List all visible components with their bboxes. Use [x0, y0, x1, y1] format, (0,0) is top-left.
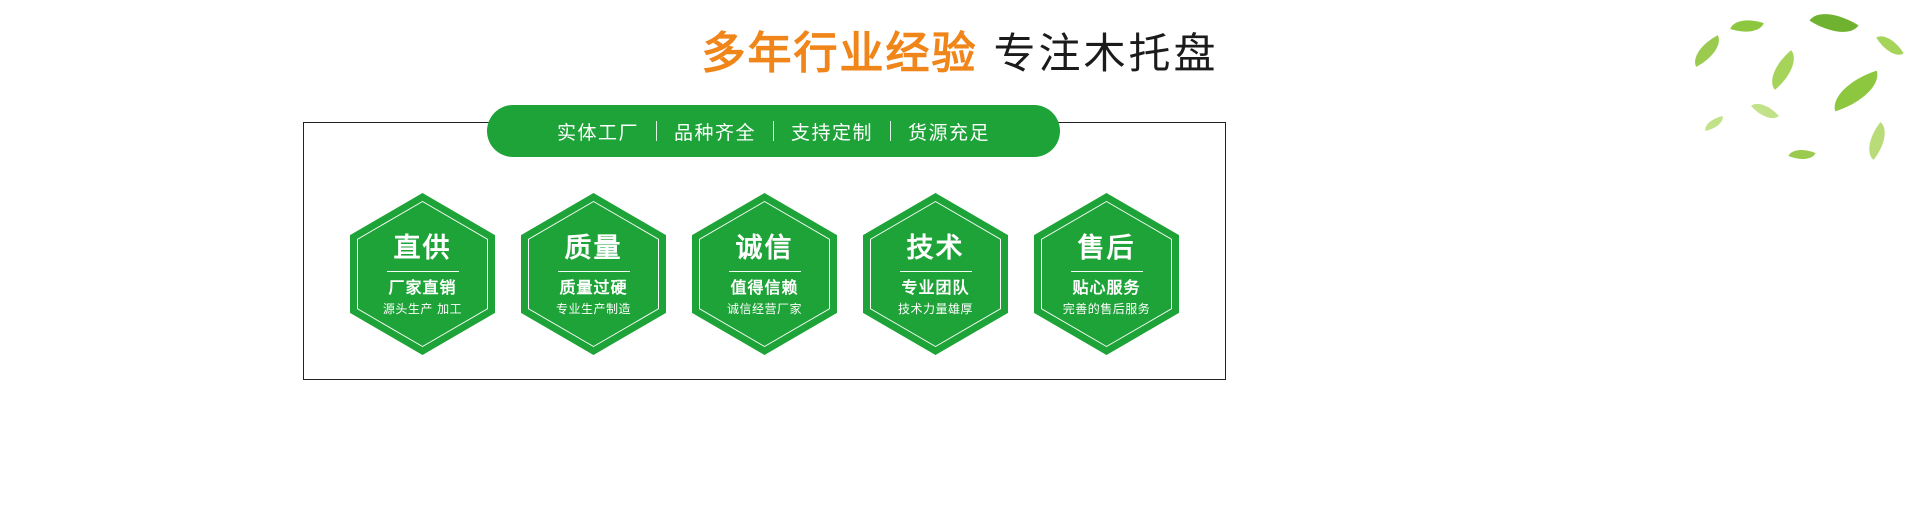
leaf-icon: [1703, 116, 1725, 131]
pill-item-1[interactable]: 品种齐全: [657, 118, 773, 145]
leaf-icon: [1788, 144, 1815, 165]
hexagon-caption: 源头生产 加工: [383, 302, 462, 318]
hexagon-caption: 专业生产制造: [556, 302, 631, 318]
hexagon-badge-row: 直供 厂家直销 源头生产 加工 质量 质量过硬 专业生产制造 诚信 值得信赖: [303, 193, 1226, 355]
hexagon-badge-4[interactable]: 售后 贴心服务 完善的售后服务: [1034, 193, 1179, 355]
hexagon-title: 直供: [394, 233, 452, 264]
hexagon-title: 售后: [1078, 233, 1136, 264]
pill-item-0[interactable]: 实体工厂: [540, 118, 656, 145]
hexagon-badge-0[interactable]: 直供 厂家直销 源头生产 加工: [350, 193, 495, 355]
headline-highlight: 多年行业经验: [701, 28, 977, 79]
banner-headline: 多年行业经验专注木托盘: [0, 32, 1920, 76]
feature-pill-bar: 实体工厂 品种齐全 支持定制 货源充足: [487, 105, 1060, 157]
hexagon-divider: [387, 271, 459, 273]
hexagon-title: 技术: [907, 233, 965, 264]
hexagon-divider: [900, 271, 972, 273]
hexagon-badge-1[interactable]: 质量 质量过硬 专业生产制造: [521, 193, 666, 355]
hexagon-divider: [558, 271, 630, 273]
hexagon-subtitle: 专业团队: [901, 278, 969, 297]
pill-separator: [656, 121, 657, 141]
hexagon-subtitle: 质量过硬: [559, 278, 627, 297]
hexagon-caption: 技术力量雄厚: [898, 302, 973, 318]
hexagon-subtitle: 厂家直销: [388, 278, 456, 297]
hexagon-divider: [729, 271, 801, 273]
hexagon-badge-2[interactable]: 诚信 值得信赖 诚信经营厂家: [692, 193, 837, 355]
leaf-icon: [1751, 97, 1779, 126]
hexagon-badge-3[interactable]: 技术 专业团队 技术力量雄厚: [863, 193, 1008, 355]
headline-rest: 专注木托盘: [993, 29, 1218, 78]
hexagon-caption: 诚信经营厂家: [727, 302, 802, 318]
hexagon-divider: [1071, 271, 1143, 273]
pill-separator: [773, 121, 774, 141]
pill-item-2[interactable]: 支持定制: [774, 118, 890, 145]
hexagon-title: 诚信: [736, 233, 794, 264]
hexagon-title: 质量: [565, 233, 623, 264]
leaf-icon: [1859, 122, 1894, 160]
leaf-icon: [1827, 71, 1884, 112]
hexagon-subtitle: 值得信赖: [730, 278, 798, 297]
hexagon-subtitle: 贴心服务: [1072, 278, 1140, 297]
hexagon-caption: 完善的售后服务: [1063, 302, 1151, 318]
pill-separator: [890, 121, 891, 141]
pill-item-3[interactable]: 货源充足: [891, 118, 1007, 145]
promo-banner: 多年行业经验专注木托盘 实体工厂 品种齐全 支持定制 货源充足 直供 厂家直销 …: [0, 0, 1920, 509]
